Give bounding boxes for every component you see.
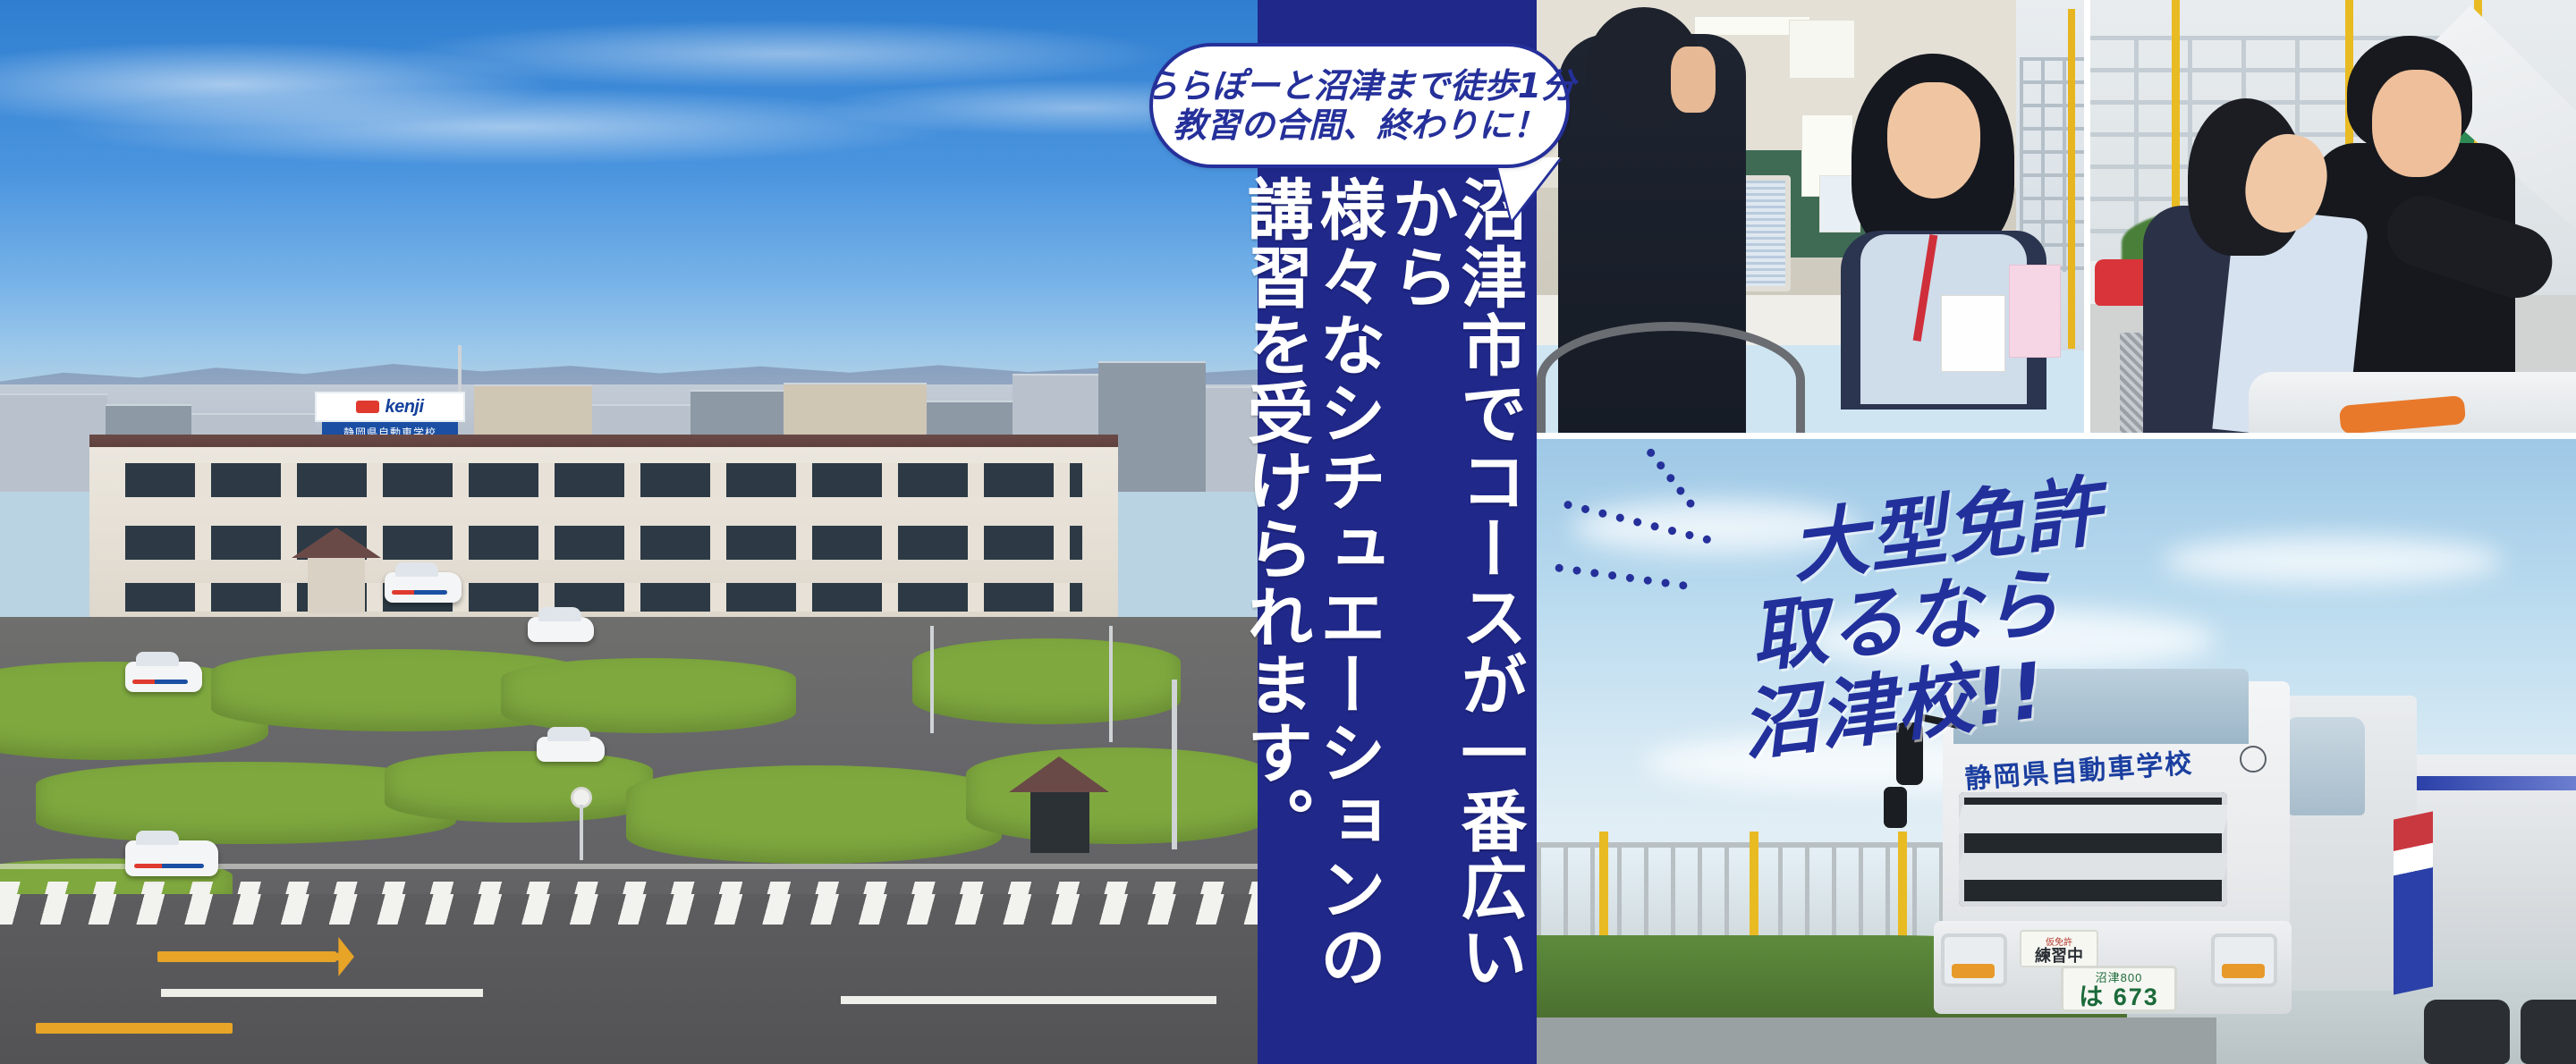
yellow-road-arrow — [36, 1023, 233, 1034]
course-grass-island — [385, 751, 653, 823]
crosswalk-markings — [0, 894, 1268, 925]
course-pole — [1109, 626, 1113, 742]
staff-face — [1887, 82, 1980, 198]
truck-bed-rail — [2417, 776, 2576, 790]
car-stripe — [134, 864, 204, 868]
vertical-headline-col-1: 沼津市でコースが一番広いから — [1385, 175, 1522, 1016]
decorative-dotted-line — [1555, 563, 1706, 592]
speech-bubble-line-2: 教習の合間、終わりに！ — [1173, 106, 1546, 145]
reception-counter-photo — [1537, 0, 2089, 438]
cloud — [2163, 536, 2503, 585]
car-stripe — [392, 590, 447, 595]
course-observation-kiosk — [308, 554, 365, 613]
sign-pole — [580, 805, 583, 860]
yellow-road-arrow — [157, 951, 336, 962]
training-car — [528, 617, 594, 642]
training-car — [537, 737, 605, 762]
truck-side-window — [2288, 717, 2365, 815]
sky-gradient — [0, 0, 1268, 384]
speech-bubble-line-1: ららぽーと沼津まで徒歩1分 — [1144, 66, 1575, 106]
course-grass-island — [501, 658, 796, 733]
kenji-roof-sign: kenji — [315, 392, 465, 422]
photo-divider-vertical — [2084, 0, 2090, 438]
wall-poster — [1789, 20, 1855, 79]
training-car — [125, 662, 202, 692]
yellow-pole — [2068, 9, 2075, 349]
license-plate-number: は 673 — [2079, 985, 2159, 1009]
hero-banner: kenji 静岡県自動車学校 — [0, 0, 2576, 1064]
vertical-headline-columns: 講習を受けられます。 様々なシチュエーションの 沼津市でコースが一番広いから — [1236, 175, 1522, 1016]
truck-under-mirror — [1884, 787, 1907, 828]
learner-plate-top-label: 仮免許 — [2046, 934, 2072, 948]
course-pole — [1172, 680, 1177, 849]
building-window-row — [125, 463, 1082, 497]
truck-emblem — [2240, 746, 2267, 773]
truck-license-plate: 沼津800 は 673 — [2061, 966, 2177, 1012]
course-grass-island — [626, 765, 1002, 864]
truck-wheel — [2424, 1000, 2510, 1064]
vertical-headline-col-3: 講習を受けられます。 — [1240, 175, 1309, 855]
large-truck-photo: 大型免許 取るなら 沼津校!! 静岡県自動車学校 — [1537, 438, 2576, 1064]
chair-back — [1537, 322, 1805, 438]
learner-plate: 仮免許 練習中 — [2020, 930, 2098, 967]
counter-leaflet — [2009, 265, 2061, 358]
course-grass-island — [912, 638, 1181, 724]
course-grass-island — [966, 747, 1268, 844]
truck-wheel — [2521, 1000, 2576, 1064]
kenji-brand-label: kenji — [385, 397, 423, 418]
large-license-banner: 大型免許 取るなら 沼津校!! — [1741, 492, 2102, 744]
truck-headlight-left — [1941, 933, 2007, 987]
training-car — [385, 572, 462, 603]
counter-leaflet-stand — [1941, 295, 2005, 372]
instructor-face — [2372, 70, 2462, 177]
car-logo-icon — [356, 401, 379, 413]
truck-livery-stripe — [2394, 811, 2433, 994]
building-window-row — [125, 526, 1082, 560]
promo-speech-bubble: ららぽーと沼津まで徒歩1分 教習の合間、終わりに！ — [1149, 43, 1570, 168]
lane-dash — [161, 989, 483, 997]
student-face — [1671, 46, 1716, 113]
course-pole — [930, 626, 934, 733]
truck-headlight-right — [2211, 933, 2277, 987]
photo-divider-horizontal — [1537, 433, 2576, 439]
car-stripe — [132, 680, 188, 684]
training-car-main — [125, 840, 218, 876]
aerial-driving-course-photo: kenji 静岡県自動車学校 — [0, 0, 1268, 1064]
lane-dash — [841, 996, 1216, 1004]
vehicle-inspection-photo — [2089, 0, 2576, 438]
truck-grille — [1959, 792, 2227, 907]
building-window-row — [125, 583, 1082, 612]
course-observation-kiosk — [1030, 787, 1089, 853]
vertical-headline-col-2: 様々なシチュエーションの — [1312, 175, 1381, 991]
learner-plate-label: 練習中 — [2035, 948, 2083, 964]
